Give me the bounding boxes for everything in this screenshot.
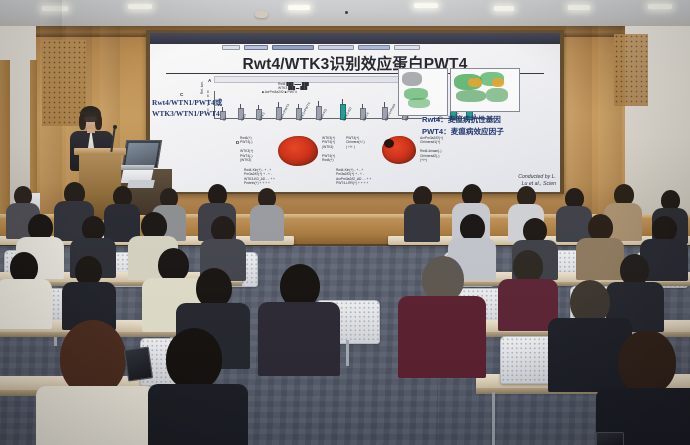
laptop-screen (125, 143, 158, 165)
construct-chip (244, 45, 268, 50)
person-torso (36, 386, 156, 445)
figure-panel-label-a: A (208, 78, 211, 83)
person-head (618, 330, 676, 394)
construct-chip (272, 45, 314, 50)
laptop (122, 140, 162, 168)
person-head (588, 214, 613, 241)
chart-errorbar (362, 104, 363, 109)
blot-bottom-matrix: Rwt4-Kin(+) - + - + Pm3a2/f2(+) + - + - … (244, 168, 275, 186)
audience-member-foreground (148, 328, 248, 445)
audience-member (62, 256, 116, 328)
person-torso (398, 296, 486, 378)
audience-member (258, 264, 340, 374)
blot-row-labels: Rwt4(+) PWT4(-) WTK3(+) PWT4(-) (WTK3) (240, 136, 253, 162)
audience-member-foreground (596, 330, 690, 445)
person-torso (258, 302, 340, 376)
audience-member (404, 186, 440, 240)
ceiling-light (648, 4, 672, 9)
chart-errorbar (342, 99, 343, 105)
phone-on-desk[interactable] (596, 432, 624, 445)
ceiling-light (288, 5, 310, 10)
microphone-icon (113, 125, 117, 129)
ceiling-speaker-dome (255, 10, 268, 18)
desk-leg (492, 392, 495, 445)
slide-credit-line1: Conducted by L. (406, 174, 556, 181)
protein-ribbon (468, 78, 482, 87)
protein-ribbon (486, 88, 508, 102)
presenter-glasses (84, 117, 97, 121)
person-head (460, 214, 485, 241)
figure-panel-label-c: C (180, 92, 183, 97)
chart-y-label: Rel. lum. (200, 68, 204, 94)
ceiling-light (414, 3, 438, 8)
lecture-hall-photo: Rwt4/WTK3识别效应蛋白PWT4 A B C D Rwt4 ███ ▬▬ … (0, 0, 690, 445)
construct-chip (318, 45, 354, 50)
slide-note-right-line1: Rwt4：麦瘟病抗性基因 (422, 114, 560, 126)
construct-chip (394, 45, 420, 50)
person-head (60, 320, 126, 396)
chair-post (346, 340, 349, 366)
protein-ribbon (408, 98, 430, 108)
person-torso (404, 204, 440, 242)
ceiling-light (128, 4, 152, 9)
figure-panel-label-d: D (236, 140, 239, 145)
chart-legend: ■ AvrPm3a2/f2 ■ PWT4 (262, 90, 297, 94)
blot-row-labels: WTK3(+) PWT4(+) (WTK3) PWT4(+) Rwt4(+) (322, 136, 335, 162)
ceiling-sensor-dot (345, 11, 348, 14)
slide-note-right-line2: PWT4：麦瘟病效应因子 (422, 126, 560, 138)
person-head (196, 268, 232, 308)
chart-errorbar (384, 102, 385, 108)
protein-ribbon (456, 90, 486, 102)
person-torso (148, 384, 248, 445)
audience-member (398, 256, 486, 376)
luminescence-leaf (278, 136, 318, 166)
figure-construct-header (214, 76, 426, 83)
protein-ribbon (492, 78, 504, 87)
blot-bottom-matrix: Rwt4-Kin(+) - + - + Pm3a2/f2(+) + - + - … (336, 168, 371, 186)
slide-note-left: Rwt4/WTN1/PWT4或 WTK3/WTN1/PWT4 (150, 98, 277, 119)
blot-row-labels: PWT4(+) Chimera(+/-) ( +/+ ) (346, 136, 365, 149)
chart-errorbar (318, 101, 319, 107)
slide-note-left-line1: Rwt4/WTN1/PWT4或 (152, 98, 277, 109)
phone-on-desk[interactable] (124, 346, 153, 381)
luminescence-dark-spot (384, 139, 394, 148)
audience-member (250, 188, 284, 240)
ceiling-light (568, 5, 590, 10)
chart-errorbar (278, 102, 279, 108)
person-torso (250, 205, 284, 241)
podium-top (74, 148, 126, 155)
construct-chip (222, 45, 240, 50)
slide-note-left-line2: WTK3/WTN1/PWT4 (152, 109, 277, 120)
person-head (166, 328, 222, 390)
audience-member (0, 252, 52, 326)
construct-chip (358, 45, 390, 50)
chart-errorbar (298, 104, 299, 109)
audience-member-foreground (36, 320, 156, 445)
projection-screen: Rwt4/WTK3识别效应蛋白PWT4 A B C D Rwt4 ███ ▬▬ … (150, 44, 560, 192)
blot-row-labels: AvrPm3a2/f2(+) Chimera#1(+) Rwt4-kinase(… (420, 136, 443, 162)
ceiling-light (494, 6, 514, 11)
slide-note-right: Rwt4：麦瘟病抗性基因 PWT4：麦瘟病效应因子 (422, 114, 560, 137)
protein-ribbon (402, 72, 422, 86)
acoustic-perforated-panel (614, 34, 648, 106)
